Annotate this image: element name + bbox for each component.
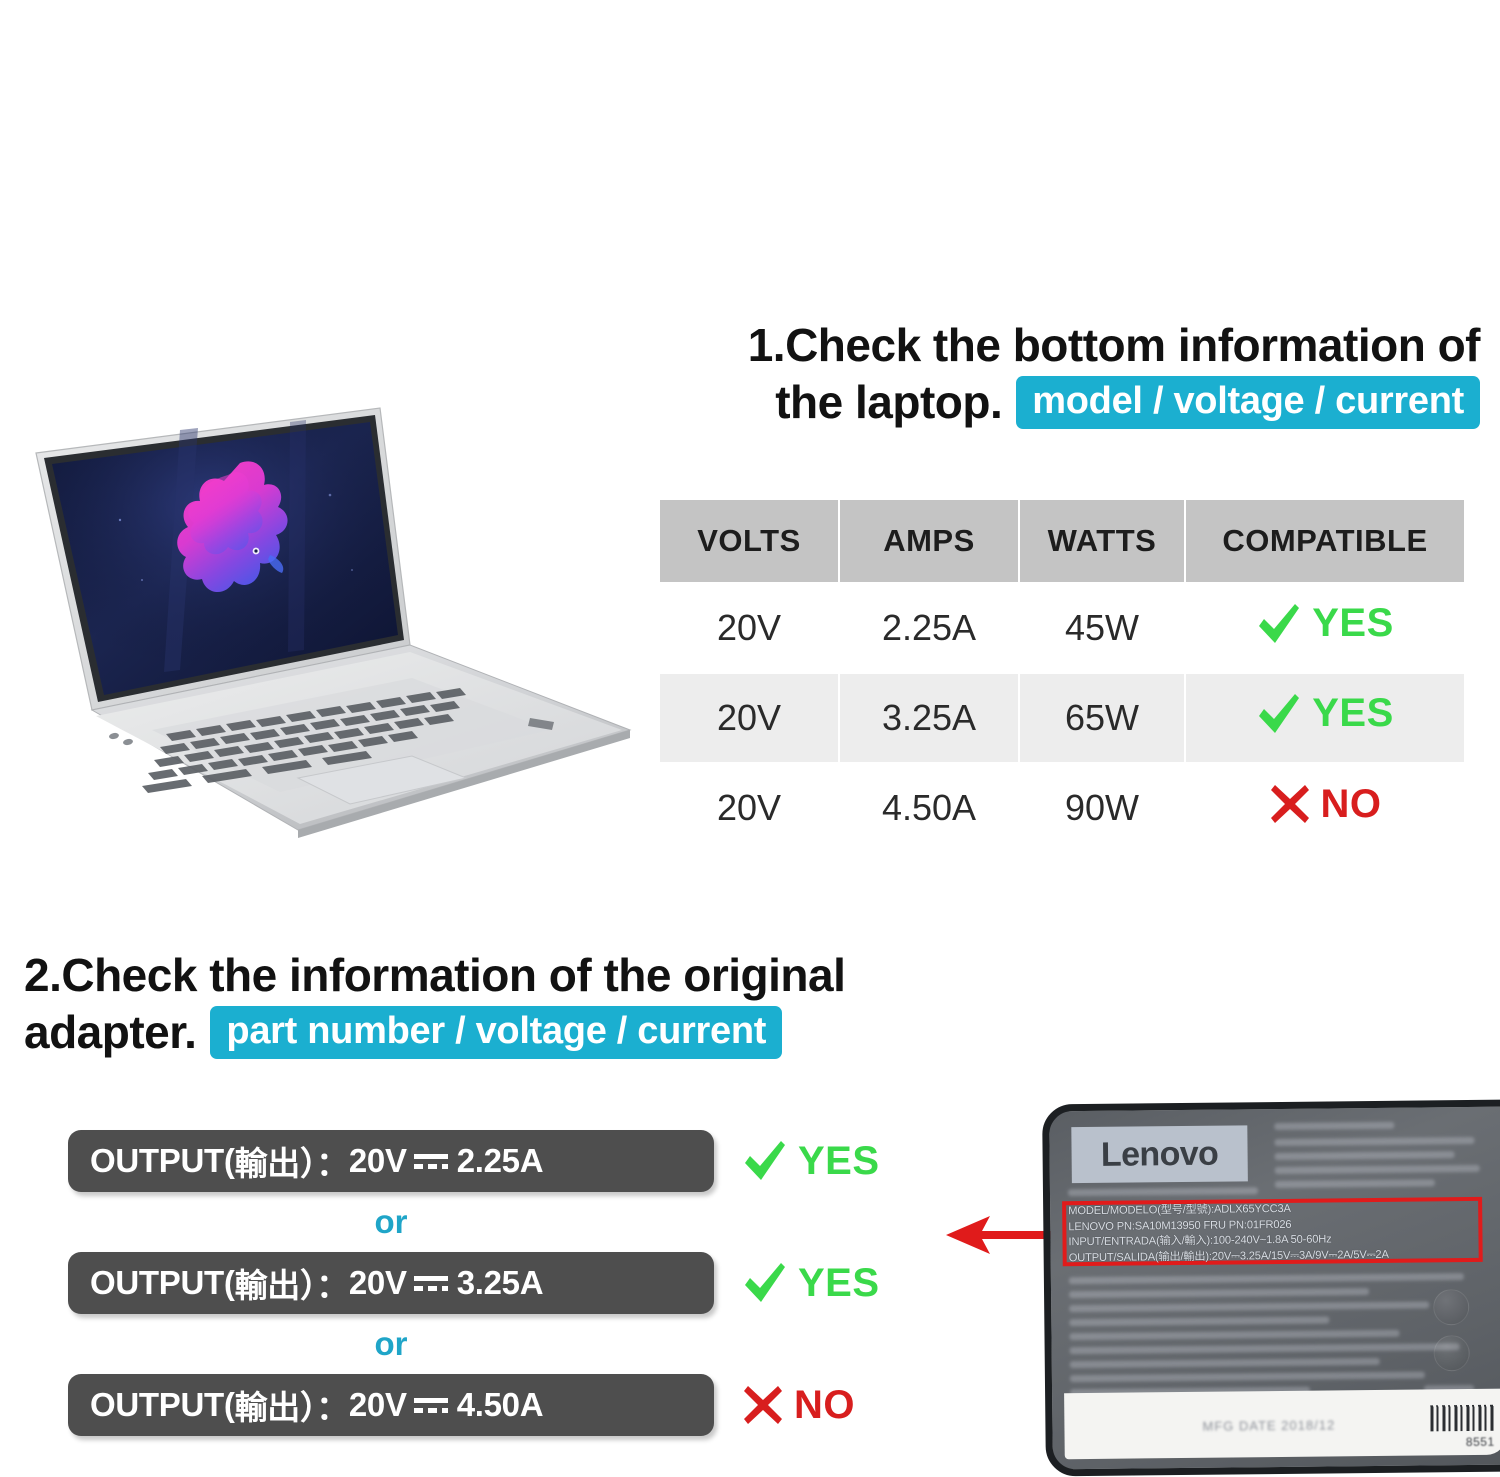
table-row: 20V 4.50A 90W NO <box>660 764 1464 852</box>
blurred-text-line <box>1070 1371 1425 1382</box>
verdict-label: NO <box>1321 782 1382 827</box>
table-header-watts: WATTS <box>1020 500 1184 582</box>
verdict-label: YES <box>1312 691 1394 736</box>
verdict-label: YES <box>1312 601 1394 646</box>
output-option-row: OUTPUT(輸出）：20V3.25A YES <box>68 1250 948 1316</box>
blurred-text-line <box>1069 1316 1329 1326</box>
cell-amps: 4.50A <box>840 764 1018 852</box>
blurred-text-line <box>1069 1273 1464 1284</box>
verdict-no: NO <box>1269 782 1382 827</box>
output-volts: 20V <box>349 1264 407 1302</box>
check-icon <box>742 1261 788 1305</box>
output-suffix: ）： <box>300 1381 349 1429</box>
check-icon <box>1256 692 1302 736</box>
cell-watts: 65W <box>1020 674 1184 762</box>
cell-compatible: YES <box>1186 584 1464 672</box>
step-2-heading-line-2: adapter. <box>24 1009 196 1057</box>
output-prefix: OUTPUT( <box>90 1264 235 1302</box>
cell-volts: 20V <box>660 584 838 672</box>
blurred-text-line <box>1275 1165 1480 1174</box>
output-amps: 4.50A <box>457 1386 544 1424</box>
cell-amps: 2.25A <box>840 584 1018 672</box>
step-2-highlight-pill: part number / voltage / current <box>210 1006 782 1059</box>
verdict-yes: YES <box>742 1261 880 1306</box>
blurred-text-line <box>1275 1179 1435 1188</box>
output-suffix: ）： <box>300 1259 349 1307</box>
cell-watts: 90W <box>1020 764 1184 852</box>
adapter-body: Lenovo MODEL/MODELO(型号/型號):ADLX65YCC3A L… <box>1042 1100 1500 1477</box>
mfg-date-text: MFG DATE 2018/12 <box>1202 1417 1335 1433</box>
step-2-heading-line-1: 2.Check the information of the original <box>24 952 984 1000</box>
adapter-label-text: MODEL/MODELO(型号/型號):ADLX65YCC3A LENOVO P… <box>1068 1200 1489 1267</box>
verdict-label: NO <box>794 1383 855 1428</box>
blurred-text-line <box>1069 1330 1399 1340</box>
dc-current-icon <box>414 1152 448 1170</box>
output-pill: OUTPUT(輸出）：20V2.25A <box>68 1130 714 1192</box>
output-options-list: OUTPUT(輸出）：20V2.25A YES or OUTPUT(輸出）：20… <box>68 1128 948 1438</box>
output-volts: 20V <box>349 1142 407 1180</box>
cross-icon <box>742 1384 784 1426</box>
blurred-text-line <box>1274 1122 1394 1130</box>
cross-icon <box>1269 783 1311 825</box>
or-separator: or <box>68 1316 714 1372</box>
output-volts: 20V <box>349 1386 407 1424</box>
table-row: 20V 3.25A 65W YES <box>660 674 1464 762</box>
embossed-mark <box>1434 1335 1470 1371</box>
cell-volts: 20V <box>660 674 838 762</box>
cell-compatible: NO <box>1186 764 1464 852</box>
verdict-label: YES <box>798 1261 880 1306</box>
dc-current-icon <box>414 1274 448 1292</box>
step-2-heading: 2.Check the information of the original … <box>24 952 984 1059</box>
step-1-heading-line-1: 1.Check the bottom information of <box>630 322 1480 370</box>
table-row: 20V 2.25A 45W YES <box>660 584 1464 672</box>
step-1-heading: 1.Check the bottom information of the la… <box>630 322 1480 429</box>
table-header-row: VOLTS AMPS WATTS COMPATIBLE <box>660 500 1464 582</box>
table-header-amps: AMPS <box>840 500 1018 582</box>
blurred-text-line <box>1070 1343 1460 1354</box>
table-header-compatible: COMPATIBLE <box>1186 500 1464 582</box>
barcode-number: 8551 <box>1466 1435 1495 1449</box>
table-header-volts: VOLTS <box>660 500 838 582</box>
check-icon <box>742 1139 788 1183</box>
blurred-text-line <box>1069 1301 1429 1312</box>
step-1-heading-line-2: the laptop. <box>775 379 1002 427</box>
output-suffix: ）： <box>300 1137 349 1185</box>
compatibility-table: VOLTS AMPS WATTS COMPATIBLE 20V 2.25A 45… <box>658 498 1466 854</box>
output-pill: OUTPUT(輸出）：20V4.50A <box>68 1374 714 1436</box>
verdict-yes: YES <box>1256 601 1394 646</box>
lenovo-logo: Lenovo <box>1071 1125 1248 1183</box>
output-cjk: 輸出 <box>235 1137 300 1185</box>
lenovo-wordmark: Lenovo <box>1101 1134 1219 1174</box>
adapter-surface: Lenovo MODEL/MODELO(型号/型號):ADLX65YCC3A L… <box>1049 1107 1500 1470</box>
output-cjk: 輸出 <box>235 1259 300 1307</box>
or-separator: or <box>68 1194 714 1250</box>
step-1-heading-line-2-row: the laptop. model / voltage / current <box>630 376 1480 429</box>
embossed-mark <box>1433 1289 1469 1325</box>
blurred-text-line <box>1070 1358 1380 1368</box>
barcode-icon <box>1430 1405 1494 1432</box>
verdict-yes: YES <box>742 1139 880 1184</box>
check-icon <box>1256 602 1302 646</box>
cell-amps: 3.25A <box>840 674 1018 762</box>
laptop-illustration <box>30 400 640 870</box>
verdict-yes: YES <box>1256 691 1394 736</box>
verdict-no: NO <box>742 1383 855 1428</box>
step-1-highlight-pill: model / voltage / current <box>1016 376 1480 429</box>
cell-compatible: YES <box>1186 674 1464 762</box>
step-2-heading-line-2-row: adapter. part number / voltage / current <box>24 1006 984 1059</box>
cell-watts: 45W <box>1020 584 1184 672</box>
blurred-text-line <box>1274 1137 1474 1146</box>
verdict-label: YES <box>798 1139 880 1184</box>
output-option-row: OUTPUT(輸出）：20V2.25A YES <box>68 1128 948 1194</box>
output-amps: 3.25A <box>457 1264 544 1302</box>
adapter-label-photo: Lenovo MODEL/MODELO(型号/型號):ADLX65YCC3A L… <box>1036 1098 1500 1477</box>
laptop-svg <box>30 400 640 870</box>
output-cjk: 輸出 <box>235 1381 300 1429</box>
output-amps: 2.25A <box>457 1142 544 1180</box>
cell-volts: 20V <box>660 764 838 852</box>
blurred-text-line <box>1068 1187 1258 1196</box>
output-prefix: OUTPUT( <box>90 1386 235 1424</box>
output-pill: OUTPUT(輸出）：20V3.25A <box>68 1252 714 1314</box>
blurred-text-line <box>1069 1288 1369 1298</box>
blurred-text-line <box>1275 1151 1455 1160</box>
output-prefix: OUTPUT( <box>90 1142 235 1180</box>
dc-current-icon <box>414 1396 448 1414</box>
output-option-row: OUTPUT(輸出）：20V4.50A NO <box>68 1372 948 1438</box>
label-line-output: OUTPUT/SALIDA(输出/輸出):20V⎓3.25A/15V⎓3A/9V… <box>1069 1247 1489 1267</box>
